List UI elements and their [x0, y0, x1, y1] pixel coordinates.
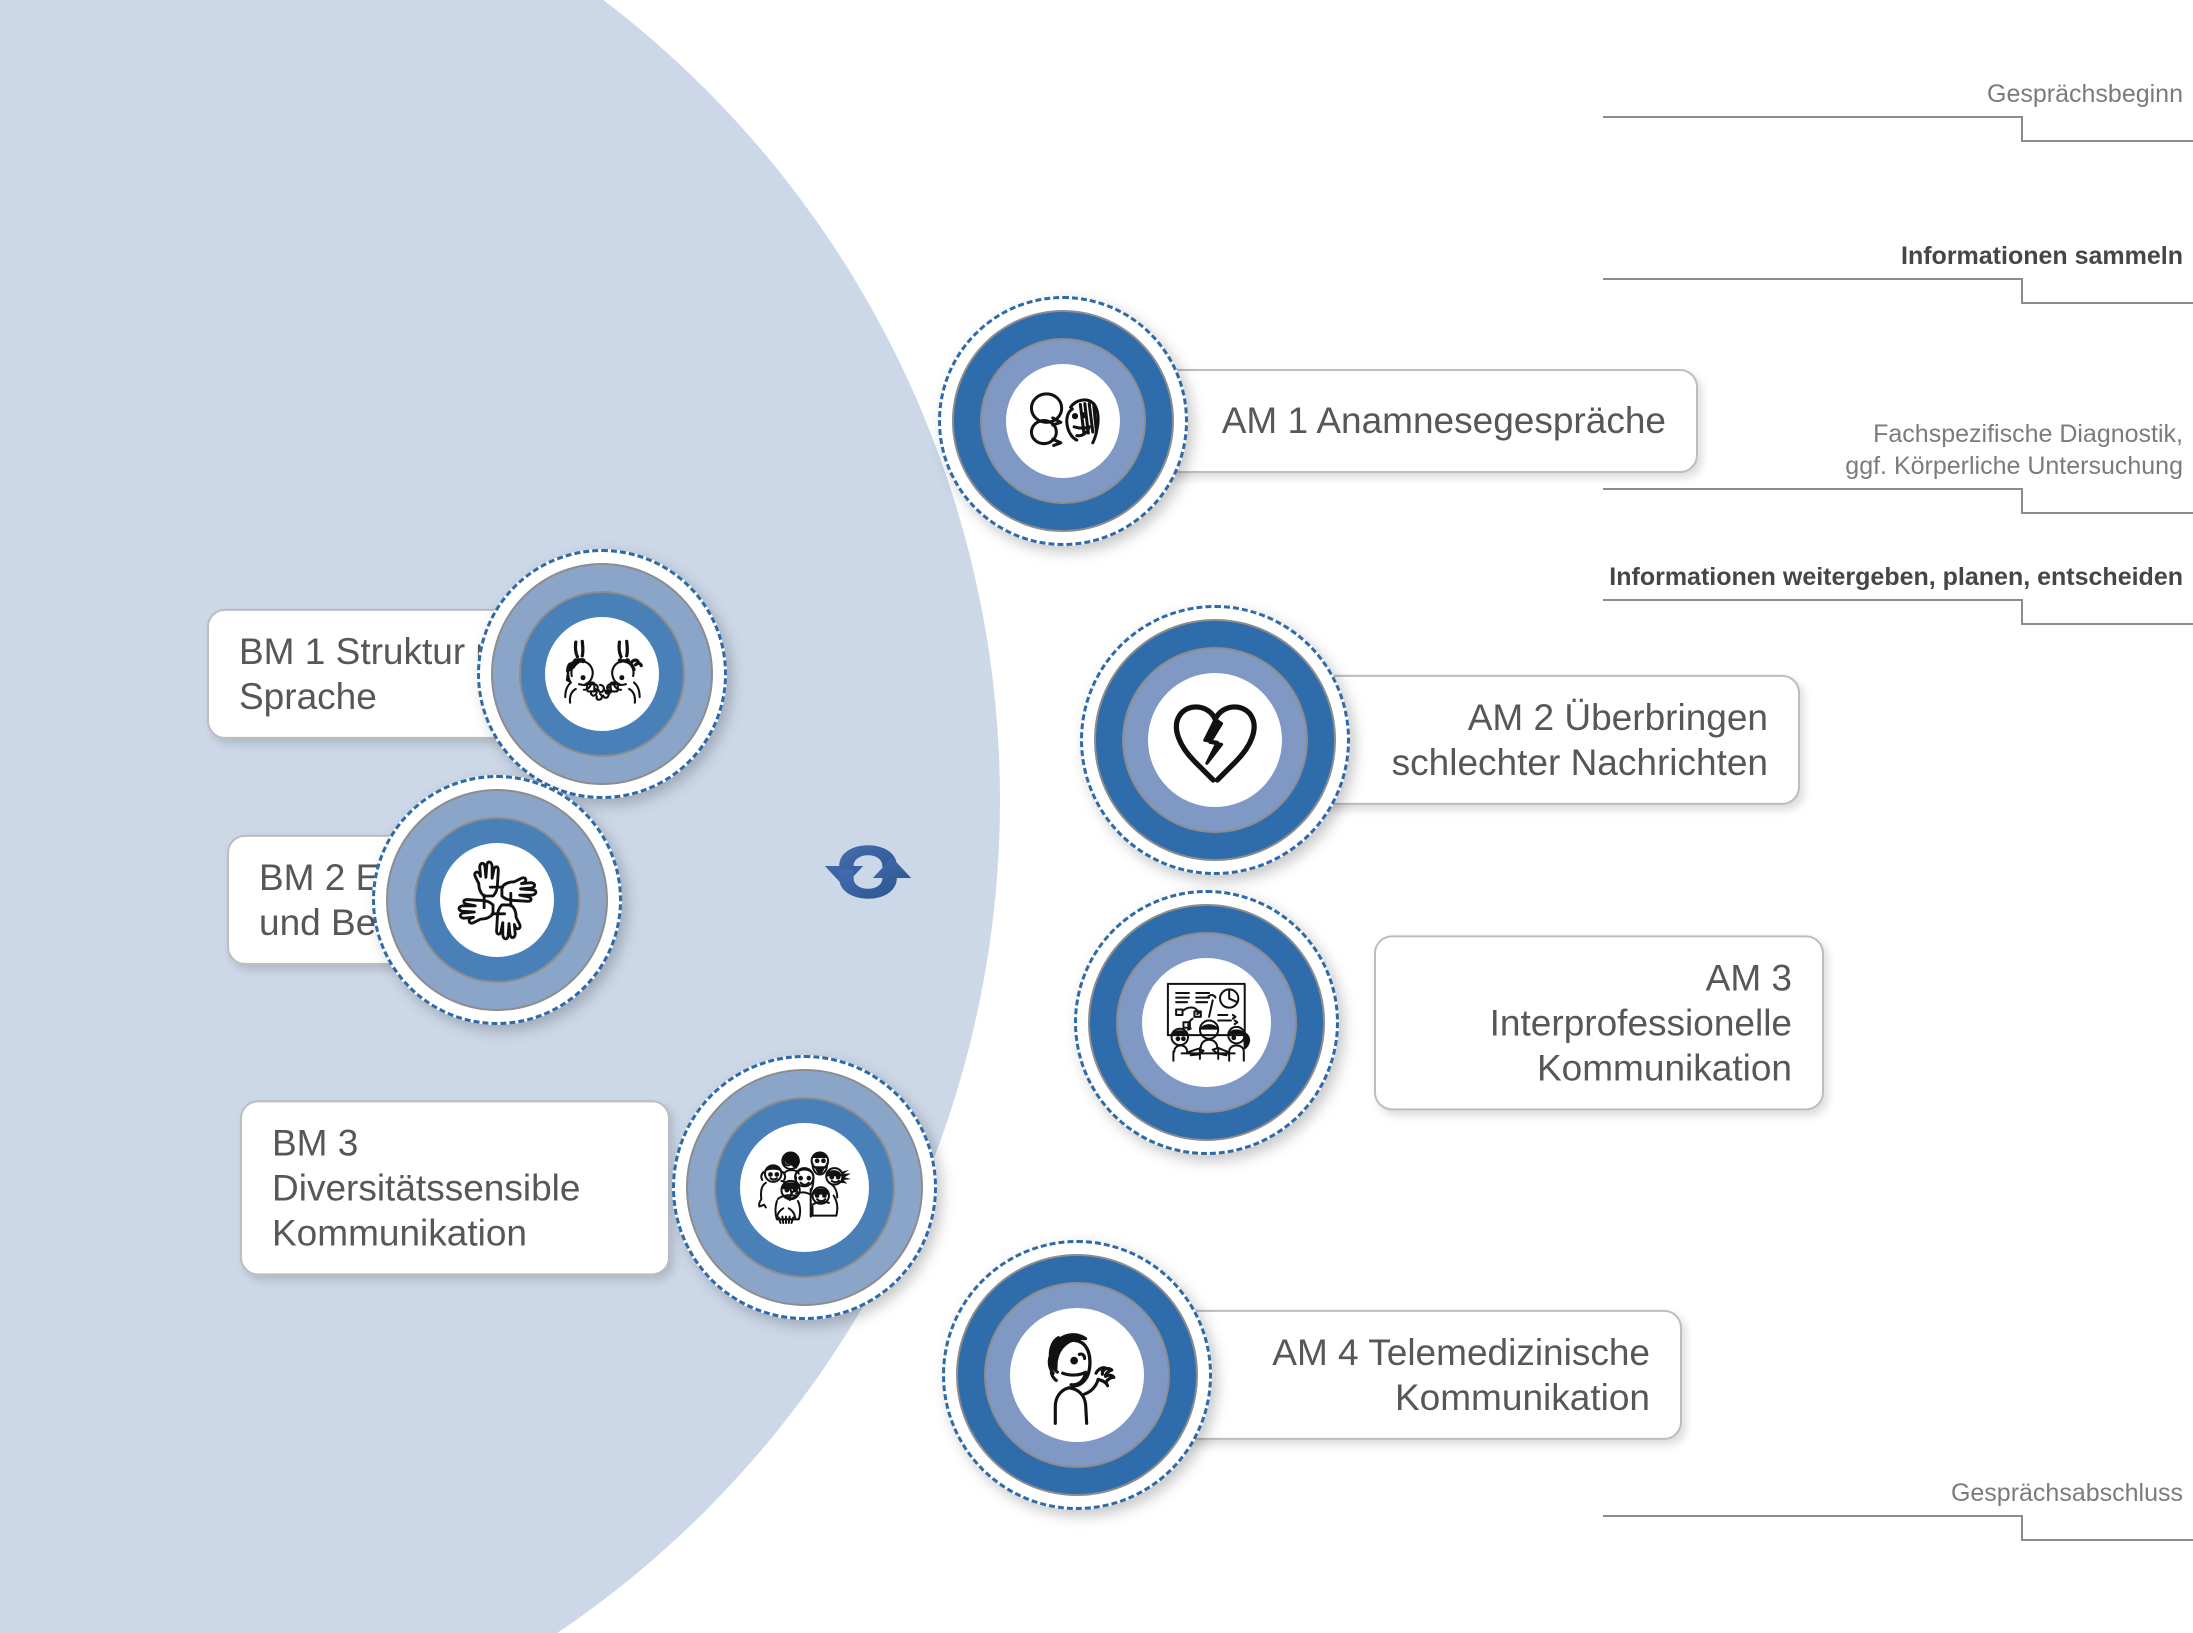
module-card-bm-3[interactable]: BM 3 Diversitätssensible Kommunikation: [240, 1100, 670, 1275]
module-badge-am-4[interactable]: [942, 1240, 1212, 1510]
module-badge-am-2[interactable]: [1080, 605, 1350, 875]
phase-label: Informationen sammeln: [1573, 240, 2193, 272]
module-badge-bm-2[interactable]: [372, 775, 622, 1025]
module-badge-bm-1[interactable]: [477, 549, 727, 799]
module-badge-am-3[interactable]: [1074, 890, 1339, 1155]
module-node-bm-1[interactable]: BM 1 Struktur und Sprache: [207, 549, 677, 799]
phase-step-line: [1573, 116, 2193, 142]
module-node-am-3[interactable]: AM 3 Interprofessionelle Kommunikation: [1074, 890, 1824, 1155]
four-hands-icon: [440, 843, 554, 957]
diverse-group-icon: [740, 1123, 869, 1252]
module-node-am-1[interactable]: AM 1 Anamnesegespräche: [938, 296, 1698, 546]
module-card-am-2[interactable]: AM 2 Überbringen schlechter Nachrichten: [1295, 675, 1800, 805]
phase-label: Gesprächsbeginn: [1573, 78, 2193, 110]
module-badge-bm-3[interactable]: [672, 1055, 937, 1320]
phase-label: Informationen weitergeben, planen, entsc…: [1573, 561, 2193, 593]
diagram-canvas: Gesprächsbeginn Informationen sammeln Fa…: [0, 0, 2193, 1633]
module-node-bm-2[interactable]: BM 2 Emotion und Beziehung: [227, 775, 637, 1025]
cyclic-arrows-icon: [808, 812, 928, 932]
module-label: AM 2 Überbringen schlechter Nachrichten: [1327, 695, 1768, 785]
module-badge-am-1[interactable]: [938, 296, 1188, 546]
module-label: BM 3 Diversitätssensible Kommunikation: [272, 1120, 638, 1255]
person-waving-icon: [1010, 1308, 1144, 1442]
team-presentation-icon: [1142, 958, 1271, 1087]
two-people-talking-icon: [545, 617, 659, 731]
module-label: AM 4 Telemedizinische Kommunikation: [1189, 1330, 1650, 1420]
module-node-am-2[interactable]: AM 2 Überbringen schlechter Nachrichten: [1080, 605, 1800, 875]
module-label: AM 3 Interprofessionelle Kommunikation: [1406, 955, 1792, 1090]
module-card-am-3[interactable]: AM 3 Interprofessionelle Kommunikation: [1374, 935, 1824, 1110]
phase-step-line: [1573, 1515, 2193, 1541]
module-card-am-1[interactable]: AM 1 Anamnesegespräche: [1136, 369, 1698, 473]
module-label: AM 1 Anamnesegespräche: [1168, 398, 1666, 443]
phase-marker-gespraechsbeginn: Gesprächsbeginn: [1573, 78, 2193, 142]
phase-marker-informationen-sammeln: Informationen sammeln: [1573, 240, 2193, 304]
speech-bubbles-face-icon: [1006, 364, 1120, 478]
broken-heart-icon: [1148, 673, 1282, 807]
module-card-am-4[interactable]: AM 4 Telemedizinische Kommunikation: [1157, 1310, 1682, 1440]
module-node-bm-3[interactable]: BM 3 Diversitätssensible Kommunikation: [240, 1055, 690, 1320]
module-node-am-4[interactable]: AM 4 Telemedizinische Kommunikation: [942, 1240, 1682, 1510]
